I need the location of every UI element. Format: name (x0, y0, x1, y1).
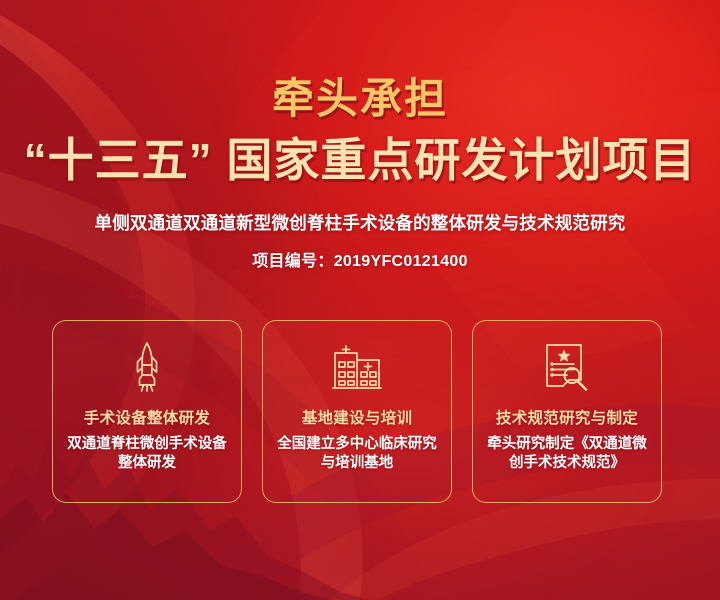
rocket-icon (130, 342, 164, 392)
feature-card-description: 全国建立多中心临床研究与培训基地 (273, 435, 441, 473)
feature-card-title: 手术设备整体研发 (84, 406, 210, 428)
poster-content: 牵头承担 “十三五” 国家重点研发计划项目 单侧双通道双通道新型微创脊柱手术设备… (0, 0, 720, 600)
feature-card-description: 双通道脊柱微创手术设备整体研发 (63, 435, 231, 473)
project-number: 项目编号：2019YFC0121400 (0, 247, 720, 271)
feature-card-title: 技术规范研究与制定 (496, 406, 638, 428)
feature-card-title: 基地建设与培训 (302, 406, 413, 428)
document-magnifier-icon (543, 342, 591, 392)
feature-card[interactable]: 基地建设与培训 全国建立多中心临床研究与培训基地 (262, 320, 452, 503)
feature-card[interactable]: 手术设备整体研发 双通道脊柱微创手术设备整体研发 (52, 320, 242, 503)
project-subtitle: 单侧双通道双通道新型微创脊柱手术设备的整体研发与技术规范研究 (0, 210, 720, 235)
hospital-building-icon (331, 342, 383, 392)
feature-card-list: 手术设备整体研发 双通道脊柱微创手术设备整体研发 (52, 320, 668, 503)
feature-card[interactable]: 技术规范研究与制定 牵头研究制定《双通道微创手术技术规范》 (472, 320, 662, 503)
poster-banner: 牵头承担 “十三五” 国家重点研发计划项目 单侧双通道双通道新型微创脊柱手术设备… (0, 0, 720, 600)
page-title-line-1: 牵头承担 (0, 78, 720, 120)
page-title-line-2: “十三五” 国家重点研发计划项目 (0, 137, 720, 183)
feature-card-description: 牵头研究制定《双通道微创手术技术规范》 (483, 435, 651, 473)
